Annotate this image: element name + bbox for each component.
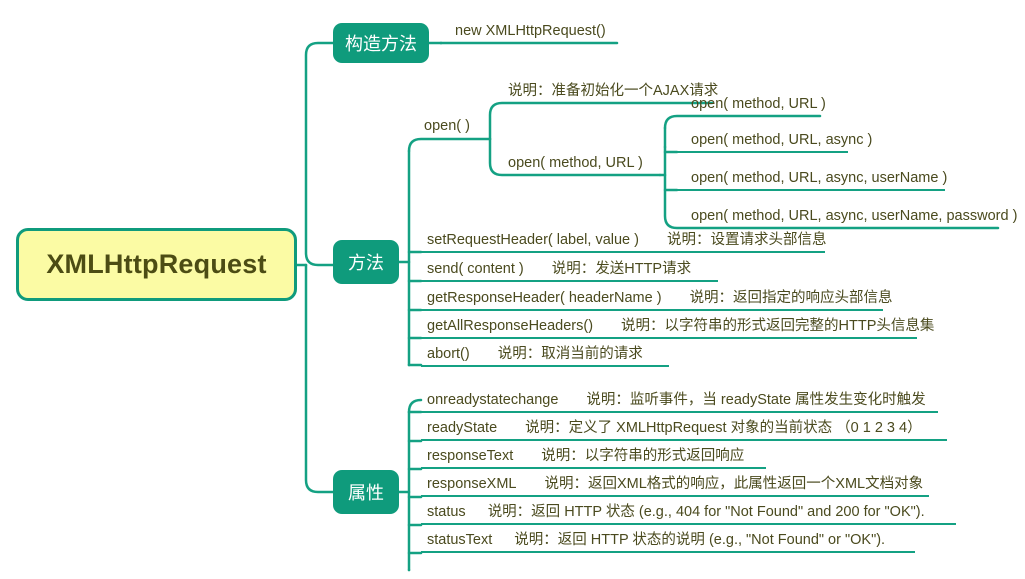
leaf-new-xmlhttprequest[interactable]: new XMLHttpRequest() bbox=[441, 20, 617, 44]
leaf-label: open( method, URL, async, userName, pass… bbox=[677, 209, 1017, 227]
leaf-name: statusText bbox=[421, 533, 492, 551]
branch-node-constructor[interactable]: 构造方法 bbox=[333, 23, 429, 63]
leaf-open-overload-3[interactable]: open( method, URL, async, userName ) bbox=[677, 167, 945, 191]
leaf-desc: 说明：定义了 XMLHttpRequest 对象的当前状态 （0 1 2 3 4… bbox=[497, 421, 921, 439]
leaf-open-overload-1[interactable]: open( method, URL ) bbox=[677, 93, 820, 117]
leaf-label: open( method, URL ) bbox=[677, 97, 826, 115]
leaf-name: getAllResponseHeaders() bbox=[421, 319, 593, 337]
leaf-name: send( content ) bbox=[421, 262, 524, 280]
leaf-open-overload-4[interactable]: open( method, URL, async, userName, pass… bbox=[677, 205, 998, 229]
root-node[interactable]: XMLHttpRequest bbox=[16, 228, 297, 301]
mindmap-canvas: XMLHttpRequest 构造方法 方法 属性 new XMLHttpReq… bbox=[0, 0, 1025, 579]
leaf-method-setrequestheader[interactable]: setRequestHeader( label, value ) 说明：设置请求… bbox=[421, 229, 825, 253]
leaf-open-signature[interactable]: open( method, URL ) bbox=[502, 152, 660, 176]
root-node-label: XMLHttpRequest bbox=[46, 249, 266, 280]
leaf-name: readyState bbox=[421, 421, 497, 439]
leaf-method-getresponseheader[interactable]: getResponseHeader( headerName ) 说明：返回指定的… bbox=[421, 287, 883, 311]
leaf-desc: 说明：取消当前的请求 bbox=[470, 347, 643, 365]
leaf-property-responsetext[interactable]: responseText 说明：以字符串的形式返回响应 bbox=[421, 445, 766, 469]
leaf-desc: 说明：返回XML格式的响应，此属性返回一个XML文档对象 bbox=[516, 477, 923, 495]
branch-node-constructor-label: 构造方法 bbox=[345, 30, 417, 56]
leaf-method-abort[interactable]: abort() 说明：取消当前的请求 bbox=[421, 343, 669, 367]
branch-node-properties[interactable]: 属性 bbox=[333, 470, 399, 514]
leaf-open-overload-2[interactable]: open( method, URL, async ) bbox=[677, 129, 848, 153]
leaf-label: open( method, URL ) bbox=[502, 156, 643, 174]
leaf-property-status[interactable]: status 说明：返回 HTTP 状态 (e.g., 404 for "Not… bbox=[421, 501, 956, 525]
leaf-label: open( method, URL, async, userName ) bbox=[677, 171, 947, 189]
branch-node-properties-label: 属性 bbox=[348, 479, 384, 505]
leaf-label: new XMLHttpRequest() bbox=[441, 24, 606, 42]
leaf-desc: 说明：返回 HTTP 状态的说明 (e.g., "Not Found" or "… bbox=[492, 533, 885, 551]
leaf-name: status bbox=[421, 505, 466, 523]
leaf-desc: 说明：设置请求头部信息 bbox=[639, 233, 827, 251]
leaf-method-getallresponseheaders[interactable]: getAllResponseHeaders() 说明：以字符串的形式返回完整的H… bbox=[421, 315, 917, 339]
leaf-name: abort() bbox=[421, 347, 470, 365]
leaf-name: responseXML bbox=[421, 477, 516, 495]
leaf-open-label[interactable]: open( ) bbox=[424, 118, 470, 134]
leaf-desc: 说明：返回指定的响应头部信息 bbox=[662, 291, 893, 309]
leaf-method-send[interactable]: send( content ) 说明：发送HTTP请求 bbox=[421, 258, 718, 282]
leaf-property-responsexml[interactable]: responseXML 说明：返回XML格式的响应，此属性返回一个XML文档对象 bbox=[421, 473, 929, 497]
leaf-desc: 说明：返回 HTTP 状态 (e.g., 404 for "Not Found"… bbox=[466, 505, 925, 523]
leaf-desc: 说明：以字符串的形式返回响应 bbox=[513, 449, 744, 467]
leaf-name: setRequestHeader( label, value ) bbox=[421, 233, 639, 251]
leaf-desc: 说明：发送HTTP请求 bbox=[524, 262, 691, 280]
leaf-name: onreadystatechange bbox=[421, 393, 558, 411]
leaf-label: open( method, URL, async ) bbox=[677, 133, 872, 151]
leaf-property-onreadystatechange[interactable]: onreadystatechange 说明：监听事件，当 readyState … bbox=[421, 389, 938, 413]
leaf-name: responseText bbox=[421, 449, 513, 467]
leaf-desc: 说明：以字符串的形式返回完整的HTTP头信息集 bbox=[593, 319, 934, 337]
leaf-desc: 说明：监听事件，当 readyState 属性发生变化时触发 bbox=[558, 393, 925, 411]
branch-node-methods-label: 方法 bbox=[348, 249, 384, 275]
leaf-property-readystate[interactable]: readyState 说明：定义了 XMLHttpRequest 对象的当前状态… bbox=[421, 417, 947, 441]
leaf-property-statustext[interactable]: statusText 说明：返回 HTTP 状态的说明 (e.g., "Not … bbox=[421, 529, 915, 553]
branch-node-methods[interactable]: 方法 bbox=[333, 240, 399, 284]
leaf-name: getResponseHeader( headerName ) bbox=[421, 291, 662, 309]
